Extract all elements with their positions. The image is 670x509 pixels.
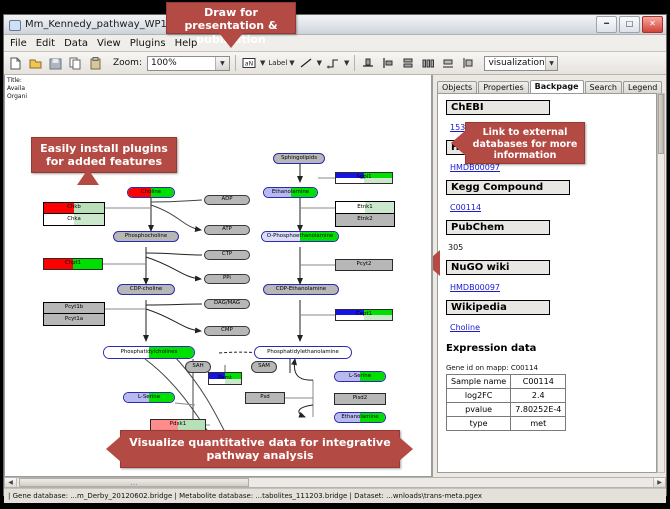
line-dropdown-icon[interactable]: ▼ — [317, 59, 322, 67]
node-adp[interactable]: ADP — [204, 195, 250, 205]
node-label: Pisd2 — [353, 396, 367, 401]
gene-chkb[interactable]: Chkb — [44, 203, 104, 214]
node-label: Chkb — [67, 205, 81, 210]
distribute-icon[interactable] — [420, 55, 437, 72]
status-text: | Gene database: ...m_Derby_20120602.bri… — [8, 492, 482, 500]
node-label: Etnk1 — [357, 205, 373, 210]
gene-group-etnk: Etnk1 Etnk2 — [335, 201, 395, 227]
menu-item-edit[interactable]: Edit — [36, 38, 55, 49]
tab-properties[interactable]: Properties — [478, 81, 528, 93]
node-label: CTP — [222, 252, 232, 257]
plugins-callout: Easily install plugins for added feature… — [31, 137, 177, 173]
db-header-pubchem: PubChem — [446, 220, 550, 235]
tab-objects[interactable]: Objects — [437, 81, 477, 93]
node-label: Sgpl1 — [356, 175, 371, 180]
table-row: Sample name C00114 — [447, 375, 566, 389]
gene-pcyt1a[interactable]: Pcyt1a — [44, 314, 104, 325]
tab-backpage[interactable]: Backpage — [530, 80, 584, 93]
node-ethanolamine[interactable]: Ethanolamine — [263, 187, 318, 198]
gene-etnk1[interactable]: Etnk1 — [336, 202, 394, 214]
db-header-chebi: ChEBI — [446, 100, 550, 115]
label-button[interactable]: Label — [268, 59, 287, 67]
node-label: SAH — [192, 364, 203, 369]
line-icon[interactable] — [298, 55, 315, 72]
gene-cept1[interactable]: Cept1 — [335, 309, 393, 321]
chevron-down-icon-2[interactable]: ▼ — [545, 57, 558, 70]
align-bottom-icon[interactable] — [360, 55, 377, 72]
gene-chka[interactable]: Chka — [44, 214, 104, 225]
node-label: CDP-choline — [130, 287, 162, 292]
db-link-nugowiki[interactable]: HMDB00097 — [450, 283, 500, 292]
gene-chpt1[interactable]: Chpt1 — [43, 258, 103, 270]
expr-key-log2fc: log2FC — [447, 389, 511, 403]
gene-pcyt2[interactable]: Pcyt2 — [335, 259, 393, 271]
menu-item-data[interactable]: Data — [64, 38, 88, 49]
canvas-hscrollbar[interactable]: ◀ … ▶ — [4, 477, 666, 488]
expr-value-type: met — [511, 417, 566, 431]
node-sam[interactable]: SAM — [251, 361, 277, 373]
datanode-icon[interactable]: aN — [241, 55, 258, 72]
gene-group-pcyt1: Pcyt1b Pcyt1a — [43, 302, 105, 326]
node-dag-mag[interactable]: DAG/MAG — [204, 299, 250, 309]
node-label: L-Serine — [138, 395, 160, 400]
expr-value-log2fc: 2.4 — [511, 389, 566, 403]
stack-icon[interactable] — [400, 55, 417, 72]
node-label: ATP — [222, 227, 232, 232]
sidebar-scrollbar[interactable] — [657, 93, 665, 473]
gene-pisd2[interactable]: Pisd2 — [334, 393, 386, 405]
node-label: DAG/MAG — [214, 301, 240, 306]
node-label: Phosphatidylcholines — [121, 350, 178, 355]
hscroll-left-arrow-icon[interactable]: ◀ — [5, 478, 17, 487]
hscroll-thumb[interactable]: … — [19, 478, 249, 487]
node-label: Sphingolipids — [281, 156, 317, 161]
visualize-callout-arrow-right-icon — [398, 436, 413, 462]
plugins-callout-arrow-icon — [77, 169, 99, 185]
gene-pemt[interactable]: Pemt — [208, 372, 242, 385]
link-callout-arrow-icon — [451, 130, 466, 156]
label-dropdown-icon[interactable]: ▼ — [289, 59, 294, 67]
table-row: type met — [447, 417, 566, 431]
toolbar: Zoom: 100% ▼ aN ▼ Label ▼ ▼ ▼ — [4, 52, 666, 75]
node-label: Phosphocholine — [125, 234, 167, 239]
node-label: Chpt1 — [65, 261, 81, 266]
node-label: Pcyt2 — [357, 262, 372, 267]
node-label: Choline — [141, 190, 161, 195]
node-label: O-Phosphoethanolamine — [267, 234, 333, 239]
gene-etnk2[interactable]: Etnk2 — [336, 214, 394, 226]
title-bar: Mm_Kennedy_pathway_WP1771_45176.gpml ━ □… — [4, 15, 666, 35]
toolbar-separator-2 — [354, 55, 355, 71]
pathvisio-icon — [8, 18, 21, 31]
gene-sgpl1[interactable]: Sgpl1 — [335, 172, 393, 184]
main-split: Title: Availa Organi — [4, 75, 666, 477]
node-label: Phosphatidylethanolamine — [267, 350, 339, 355]
link-callout: Link to external databases for more info… — [465, 122, 585, 164]
node-label: CDP-Ethanolamine — [276, 287, 326, 292]
visualization-combo[interactable]: visualization ▼ — [484, 56, 558, 71]
node-label: Pemt — [218, 376, 232, 381]
db-link-hmdb[interactable]: HMDB00097 — [450, 163, 500, 172]
paste-icon[interactable] — [87, 55, 104, 72]
node-label: Pdxk1 — [170, 422, 186, 427]
zoom-label: Zoom: — [113, 58, 142, 68]
node-ethanolamine-product[interactable]: Ethanolamine — [334, 412, 386, 423]
db-header-kegg: Kegg Compound — [446, 180, 570, 195]
node-label: Chka — [67, 217, 81, 222]
common-width-icon[interactable] — [440, 55, 457, 72]
node-o-phosphoethanolamine[interactable]: O-Phosphoethanolamine — [261, 231, 339, 242]
db-header-wikipedia: Wikipedia — [446, 300, 550, 315]
expr-value-sample-name: C00114 — [511, 375, 566, 389]
node-ctp[interactable]: CTP — [204, 250, 250, 260]
node-label: PPi — [223, 276, 231, 281]
node-phosphatidylethanolamine[interactable]: Phosphatidylethanolamine — [254, 346, 352, 359]
menu-item-file[interactable]: File — [10, 38, 27, 49]
node-phosphocholine[interactable]: Phosphocholine — [113, 231, 179, 242]
datanode-dropdown-icon[interactable]: ▼ — [260, 59, 265, 67]
hscroll-right-arrow-icon[interactable]: ▶ — [653, 478, 665, 487]
expression-pointer-arrow-icon — [432, 250, 440, 276]
svg-text:aN: aN — [245, 60, 253, 67]
chevron-down-icon[interactable]: ▼ — [215, 57, 229, 70]
pathvisio-window: Mm_Kennedy_pathway_WP1771_45176.gpml ━ □… — [3, 14, 667, 496]
side-panel: Objects Properties Backpage Search Legen… — [432, 75, 666, 477]
expr-key-sample-name: Sample name — [447, 375, 511, 389]
gene-group-chk: Chkb Chka — [43, 202, 105, 226]
node-cdp-ethanolamine[interactable]: CDP-Ethanolamine — [263, 284, 339, 295]
gene-id-label: Gene id on mapp: C00114 — [446, 364, 648, 372]
node-label: Ethanolamine — [341, 415, 378, 420]
expr-value-pvalue: 7.80252E-4 — [511, 403, 566, 417]
new-document-icon[interactable] — [7, 55, 24, 72]
node-label: Psd — [260, 395, 269, 400]
node-cdp-choline[interactable]: CDP-choline — [117, 284, 175, 295]
node-cmp[interactable]: CMP — [204, 326, 250, 336]
side-tabs: Objects Properties Backpage Search Legen… — [437, 79, 666, 93]
visualization-value: visualization — [488, 58, 544, 68]
node-ppi[interactable]: PPi — [204, 274, 250, 284]
gene-pcyt1b[interactable]: Pcyt1b — [44, 303, 104, 314]
node-label: Ethanolamine — [272, 190, 309, 195]
draw-callout-arrow-icon — [219, 33, 243, 48]
node-label: Pcyt1a — [65, 317, 83, 322]
tab-legend[interactable]: Legend — [623, 81, 662, 93]
expression-table: Sample name C00114 log2FC 2.4 pvalue 7.8… — [446, 374, 566, 431]
expression-data-heading: Expression data — [446, 343, 648, 354]
common-height-icon[interactable] — [460, 55, 477, 72]
expr-key-type: type — [447, 417, 511, 431]
node-label: ADP — [221, 197, 232, 202]
menu-item-help[interactable]: Help — [175, 38, 198, 49]
zoom-combo[interactable]: 100% ▼ — [147, 56, 230, 71]
visualize-callout-arrow-icon — [106, 436, 121, 462]
table-row: pvalue 7.80252E-4 — [447, 403, 566, 417]
close-button[interactable]: ✕ — [642, 16, 663, 33]
menu-item-view[interactable]: View — [97, 38, 121, 49]
zoom-value: 100% — [151, 58, 177, 68]
maximize-button[interactable]: □ — [619, 16, 640, 33]
pathway-canvas[interactable]: Title: Availa Organi — [4, 75, 432, 477]
table-row: log2FC 2.4 — [447, 389, 566, 403]
menu-bar: File Edit Data View Plugins Help — [4, 35, 666, 52]
toolbar-separator — [235, 55, 236, 71]
node-l-serine-right[interactable]: L-Serine — [334, 371, 386, 382]
menu-item-plugins[interactable]: Plugins — [130, 38, 166, 49]
db-header-nugowiki: NuGO wiki — [446, 260, 550, 275]
status-bar: | Gene database: ...m_Derby_20120602.bri… — [4, 488, 666, 503]
db-link-wikipedia[interactable]: Choline — [450, 323, 480, 332]
expr-key-pvalue: pvalue — [447, 403, 511, 417]
open-folder-icon[interactable] — [27, 55, 44, 72]
node-sphingolipids[interactable]: Sphingolipids — [273, 153, 325, 164]
node-label: Pcyt1b — [65, 305, 83, 310]
node-l-serine-left[interactable]: L-Serine — [123, 392, 175, 403]
tab-search[interactable]: Search — [585, 81, 622, 93]
node-choline[interactable]: Choline — [127, 187, 175, 198]
align-left-icon[interactable] — [380, 55, 397, 72]
draw-callout: Draw for presentation & publication — [166, 2, 296, 34]
node-label: Etnk2 — [357, 217, 373, 222]
node-psd[interactable]: Psd — [245, 392, 285, 404]
copy-icon[interactable] — [67, 55, 84, 72]
save-icon[interactable] — [47, 55, 64, 72]
node-label: CMP — [221, 328, 233, 333]
connector-icon[interactable] — [325, 55, 342, 72]
node-atp[interactable]: ATP — [204, 225, 250, 235]
connector-dropdown-icon[interactable]: ▼ — [344, 59, 349, 67]
minimize-button[interactable]: ━ — [596, 16, 617, 33]
node-label: L-Serine — [349, 374, 371, 379]
db-link-kegg[interactable]: C00114 — [450, 203, 481, 212]
node-label: SAM — [258, 364, 270, 369]
window-controls: ━ □ ✕ — [596, 16, 664, 33]
visualize-callout: Visualize quantitative data for integrat… — [120, 430, 400, 468]
node-phosphatidylcholines[interactable]: Phosphatidylcholines — [103, 346, 195, 359]
node-label: Cept1 — [356, 312, 372, 317]
db-value-pubchem: 305 — [448, 243, 463, 252]
sidebar-scrollbar-thumb[interactable] — [658, 94, 664, 154]
